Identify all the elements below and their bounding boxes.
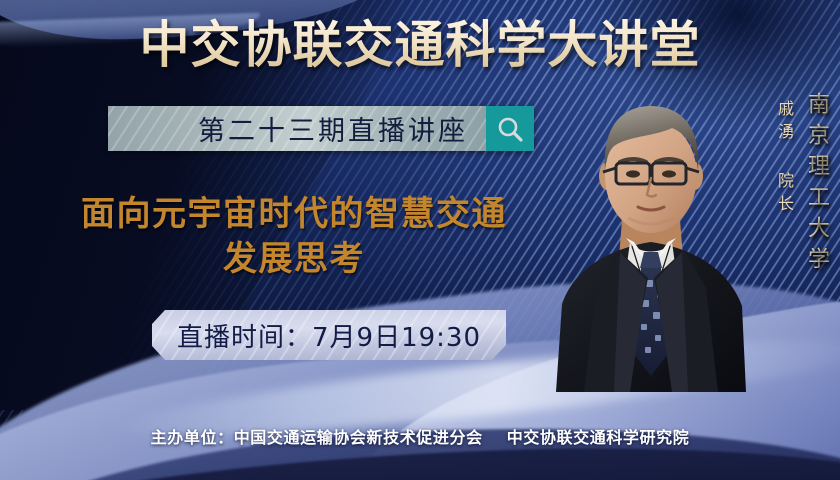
page-title: 中交协联交通科学大讲堂 — [0, 18, 840, 72]
lecture-topic-line2: 发展思考 — [34, 237, 554, 282]
speaker-portrait — [556, 92, 746, 392]
session-label: 第二十三期直播讲座 — [198, 109, 468, 148]
broadcast-time-badge: 直播时间：7月9日19:30 — [152, 310, 506, 360]
broadcast-time-label: 直播时间：7月9日19:30 — [177, 317, 481, 354]
footer-organizer-1: 中国交通运输协会新技术促进分会 — [234, 428, 483, 447]
session-bar-body: 第二十三期直播讲座 — [108, 106, 486, 151]
lecture-topic: 面向元宇宙时代的智慧交通 发展思考 — [34, 192, 554, 282]
footer-organizer-2: 中交协联交通科学研究院 — [507, 428, 690, 447]
footer-organizers: 主办单位：中国交通运输协会新技术促进分会中交协联交通科学研究院 — [0, 424, 840, 448]
session-bar: 第二十三期直播讲座 — [108, 106, 534, 151]
footer-prefix: 主办单位： — [151, 428, 234, 447]
lecture-topic-line1: 面向元宇宙时代的智慧交通 — [81, 194, 507, 234]
live-stream-poster: 中交协联交通科学大讲堂 第二十三期直播讲座 面向元宇宙时代的智慧交通 发展思考 … — [0, 0, 840, 480]
search-icon[interactable] — [486, 106, 534, 151]
speaker-info: 戚湧 院长 南京理工大学 — [772, 92, 832, 278]
speaker-organization: 南京理工大学 — [800, 92, 832, 278]
speaker-name-title: 戚湧 院长 — [772, 100, 796, 218]
